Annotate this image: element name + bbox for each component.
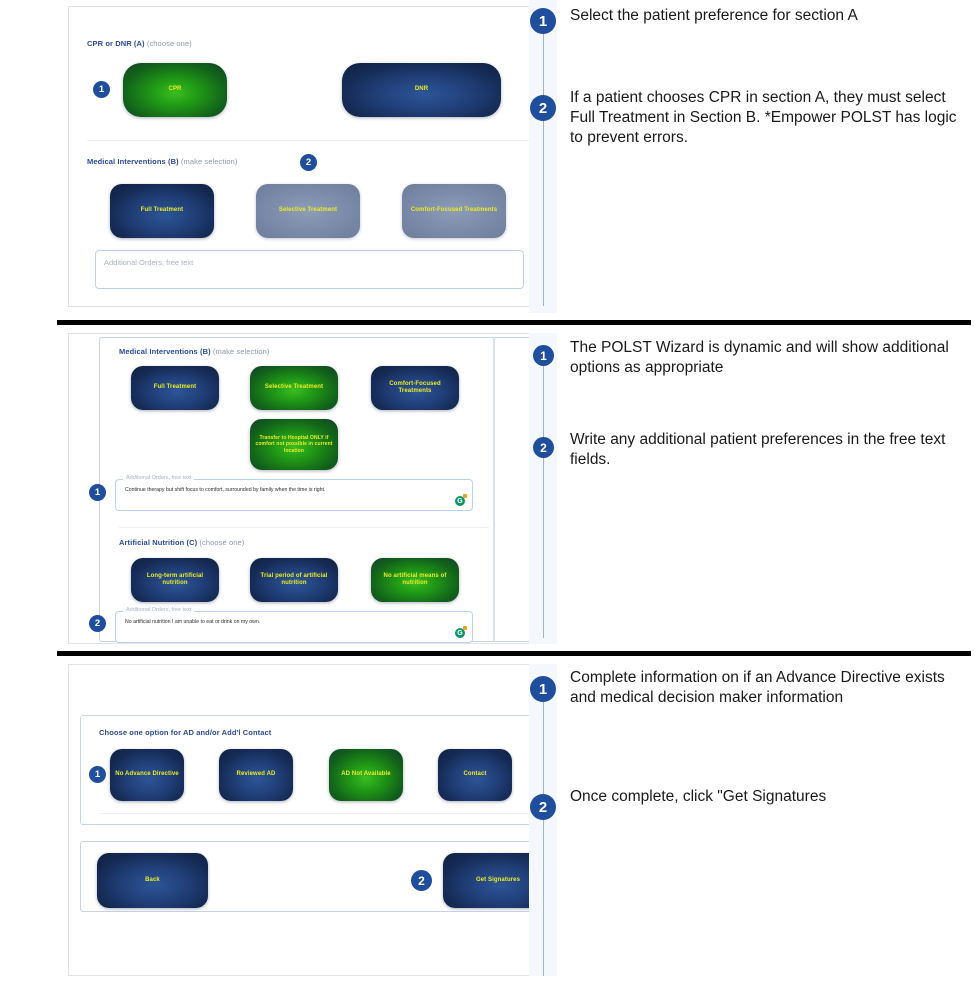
note-text-1-panel-3: Complete information on if an Advance Di… [570,668,965,708]
section-a-heading: CPR or DNR (A) (choose one) [87,39,192,48]
section-c-heading: Artificial Nutrition (C) (choose one) [119,538,244,547]
callout-1-panel-2: 1 [89,484,106,501]
cpr-button[interactable]: CPR [123,63,227,117]
additional-orders-input-b-2[interactable]: Additional Orders, free text Continue th… [115,479,473,511]
long-term-artificial-nutrition-button[interactable]: Long-term artificial nutrition [131,558,219,602]
note-badge-2-panel-1: 2 [530,95,556,121]
note-badge-2-panel-3: 2 [530,794,556,820]
note-badge-1-panel-2: 1 [533,345,554,366]
screenshot-panel-1: CPR or DNR (A) (choose one) CPR DNR Medi… [68,6,557,307]
note-badge-1-panel-3: 1 [530,676,556,702]
note-rail-3 [543,690,544,976]
comfort-focused-treatments-button[interactable]: Comfort-Focused Treatments [402,184,506,238]
note-badge-2-panel-2: 2 [533,437,554,458]
callout-2-panel-2: 2 [89,615,106,632]
contact-button[interactable]: Contact [438,749,512,801]
section-b-heading: Medical Interventions (B) (make selectio… [87,157,238,166]
selective-treatment-button-2[interactable]: Selective Treatment [250,366,338,410]
trial-period-artificial-nutrition-button[interactable]: Trial period of artificial nutrition [250,558,338,602]
note-rail-1 [543,14,544,306]
dnr-button[interactable]: DNR [342,63,501,117]
screenshot-panel-2: Medical Interventions (B) (make selectio… [68,333,557,644]
additional-orders-value-b: Continue therapy but shift focus to comf… [125,487,325,493]
ad-section-heading: Choose one option for AD and/or Add'l Co… [99,728,271,737]
reviewed-ad-button[interactable]: Reviewed AD [219,749,293,801]
additional-orders-input-b[interactable]: Additional Orders, free text [95,250,524,289]
additional-orders-value-c: No artificial nutrition I am unable to e… [125,619,260,625]
grammarly-icon[interactable]: G [455,496,465,506]
comfort-focused-treatments-button-2[interactable]: Comfort-Focused Treatments [371,366,459,410]
additional-orders-legend-c: Additional Orders, free text [123,607,194,613]
note-text-2-panel-2: Write any additional patient preferences… [570,430,965,470]
back-button[interactable]: Back [97,853,208,908]
full-treatment-button-2[interactable]: Full Treatment [131,366,219,410]
additional-orders-placeholder: Additional Orders, free text [104,258,193,267]
additional-orders-legend-b: Additional Orders, free text [123,475,194,481]
ad-card-rule [99,813,529,814]
note-text-2-panel-3: Once complete, click "Get Signatures [570,787,965,807]
section-b-heading-2: Medical Interventions (B) (make selectio… [119,347,270,356]
ad-not-available-button[interactable]: AD Not Available [329,749,403,801]
note-text-1-panel-1: Select the patient preference for sectio… [570,6,965,26]
note-badge-1-panel-1: 1 [530,8,556,34]
section-divider [87,140,539,141]
note-text-2-panel-1: If a patient chooses CPR in section A, t… [570,88,965,148]
note-text-1-panel-2: The POLST Wizard is dynamic and will sho… [570,338,965,378]
transfer-to-hospital-only-button[interactable]: Transfer to Hospital ONLY if comfort not… [250,419,338,470]
grammarly-icon[interactable]: G [455,628,465,638]
note-rail-2 [543,348,544,638]
additional-orders-input-c[interactable]: Additional Orders, free text No artifici… [115,611,473,643]
section-divider-2 [119,527,489,528]
selective-treatment-button[interactable]: Selective Treatment [256,184,360,238]
callout-1-panel-1: 1 [93,81,110,98]
no-artificial-means-nutrition-button[interactable]: No artificial means of nutrition [371,558,459,602]
tutorial-page: CPR or DNR (A) (choose one) CPR DNR Medi… [0,0,980,983]
section-divider-1 [57,320,971,325]
callout-1-panel-3: 1 [89,766,106,783]
section-divider-2-black [57,651,971,656]
callout-2-panel-1: 2 [300,154,317,171]
screenshot-panel-3: Choose one option for AD and/or Add'l Co… [68,664,557,976]
no-advance-directive-button[interactable]: No Advance Directive [110,749,184,801]
callout-2-panel-3: 2 [411,870,432,891]
panel-2-scrollbar[interactable] [493,337,495,642]
full-treatment-button[interactable]: Full Treatment [110,184,214,238]
